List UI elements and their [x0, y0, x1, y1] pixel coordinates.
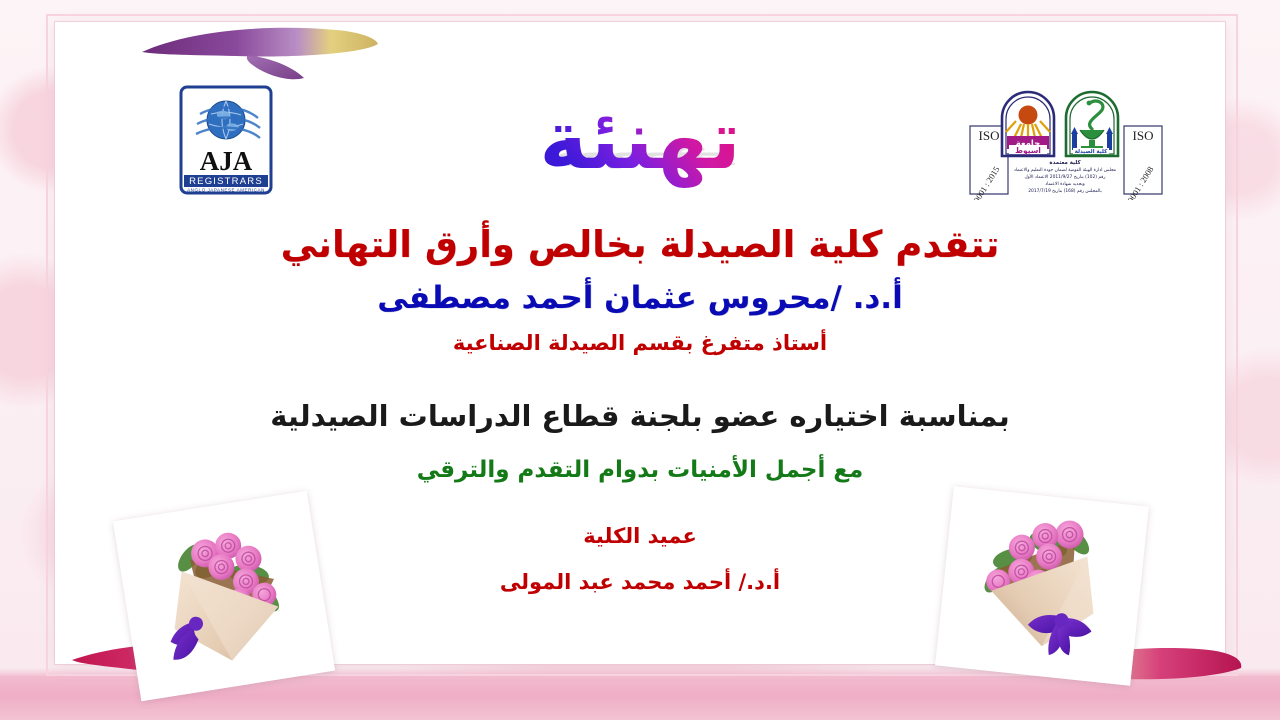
card-title: تهنئة تهنئة تهنئة: [0, 72, 1280, 202]
certificate-canvas: AJA REGISTRARS ANGLO JAPANESE AMERICAN I…: [0, 0, 1280, 720]
honoree-name: أ.د. /محروس عثمان أحمد مصطفى: [100, 280, 1180, 318]
occasion-line: بمناسبة اختياره عضو بلجنة قطاع الدراسات …: [100, 399, 1180, 434]
honoree-title: أستاذ متفرغ بقسم الصيدلة الصناعية: [100, 331, 1180, 357]
wishes-line: مع أجمل الأمنيات بدوام التقدم والترقي: [100, 456, 1180, 484]
bouquet-right-photo: [935, 486, 1149, 686]
bouquet-left-photo: [113, 491, 335, 701]
title-word: تهنئة: [539, 93, 741, 188]
congratulation-line: تتقدم كلية الصيدلة بخالص وأرق التهاني: [100, 222, 1180, 267]
title-calligraphy: تهنئة تهنئة: [475, 72, 805, 202]
